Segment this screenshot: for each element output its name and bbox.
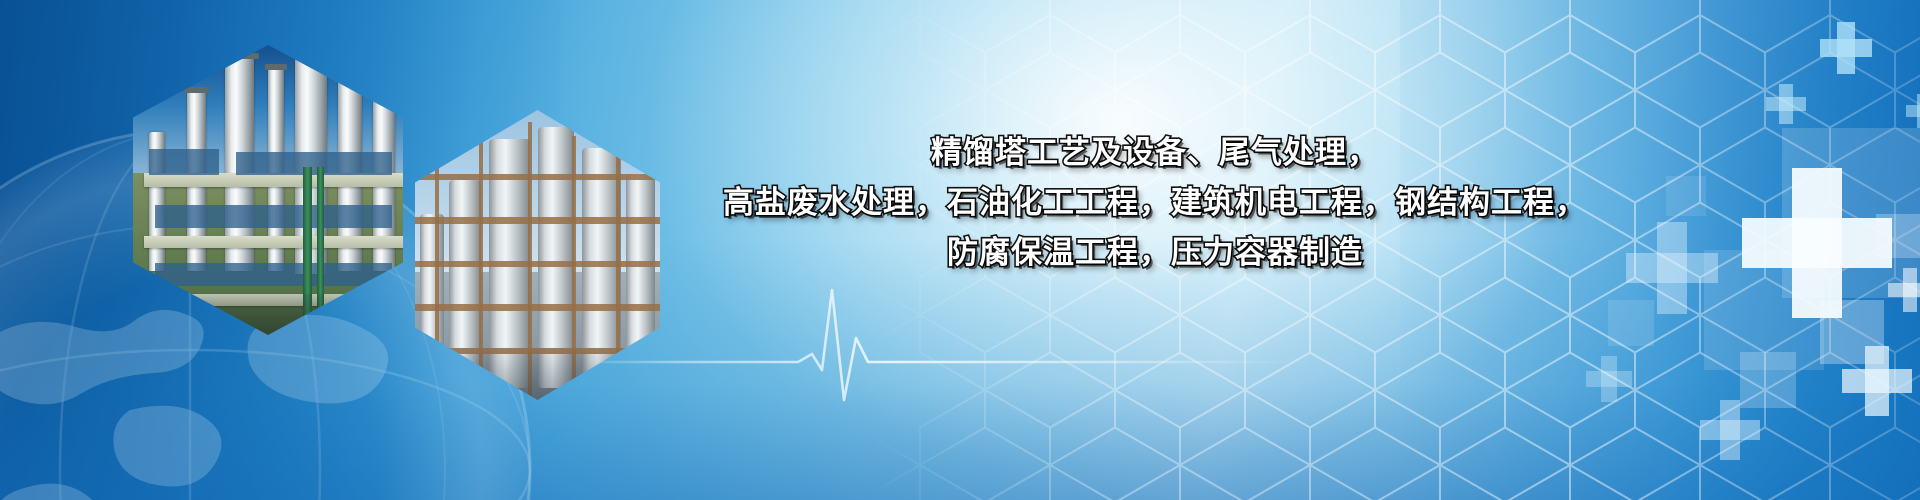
headline-line-3: 防腐保温工程，压力容器制造	[640, 228, 1670, 278]
headline-line-1: 精馏塔工艺及设备、尾气处理，	[640, 128, 1670, 178]
headline-copy: 精馏塔工艺及设备、尾气处理， 高盐废水处理，石油化工工程，建筑机电工程，钢结构工…	[640, 128, 1670, 278]
headline-line-2: 高盐废水处理，石油化工工程，建筑机电工程，钢结构工程，	[640, 178, 1670, 228]
hero-banner: 精馏塔工艺及设备、尾气处理， 高盐废水处理，石油化工工程，建筑机电工程，钢结构工…	[0, 0, 1920, 500]
